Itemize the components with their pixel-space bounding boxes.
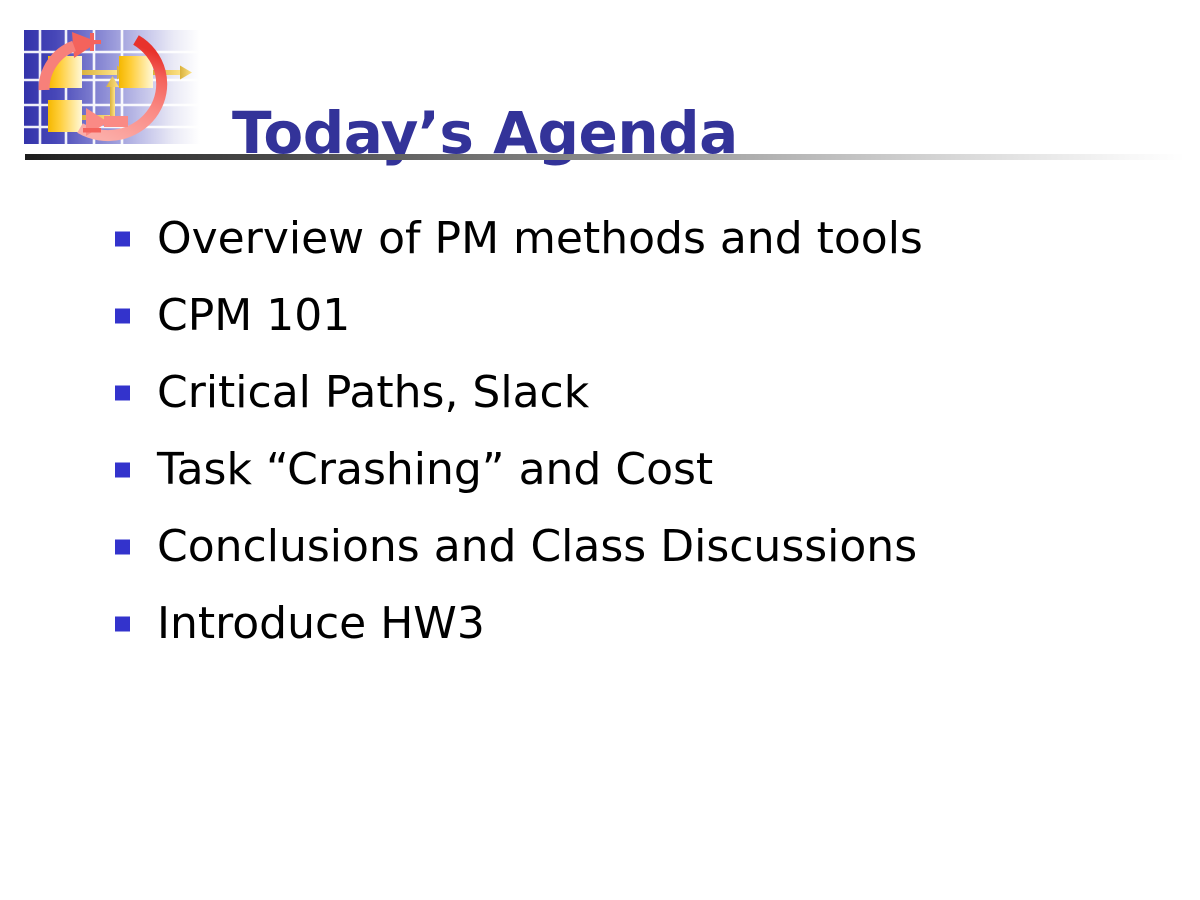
list-item-label: Conclusions and Class Discussions xyxy=(157,525,917,569)
list-item: Overview of PM methods and tools xyxy=(0,200,1200,277)
list-item: Critical Paths, Slack xyxy=(0,354,1200,431)
list-item-label: Introduce HW3 xyxy=(157,602,485,646)
list-item: Task “Crashing” and Cost xyxy=(0,431,1200,508)
bullet-square-icon xyxy=(115,462,130,477)
bullet-square-icon xyxy=(115,385,130,400)
agenda-bullet-list: Overview of PM methods and tools CPM 101… xyxy=(0,200,1200,662)
bullet-square-icon xyxy=(115,616,130,631)
bullet-square-icon xyxy=(115,231,130,246)
bullet-square-icon xyxy=(115,539,130,554)
list-item: CPM 101 xyxy=(0,277,1200,354)
header-divider xyxy=(25,154,1185,160)
slide-title: Today’s Agenda xyxy=(232,94,738,174)
slide-header: Today’s Agenda xyxy=(0,0,1200,165)
project-management-cycle-logo xyxy=(24,30,200,144)
list-item-label: Critical Paths, Slack xyxy=(157,371,589,415)
slide-canvas: Today’s Agenda Overview of PM methods an… xyxy=(0,0,1200,900)
list-item-label: Task “Crashing” and Cost xyxy=(157,448,713,492)
list-item-label: CPM 101 xyxy=(157,294,350,338)
bullet-square-icon xyxy=(115,308,130,323)
list-item: Conclusions and Class Discussions xyxy=(0,508,1200,585)
list-item: Introduce HW3 xyxy=(0,585,1200,662)
list-item-label: Overview of PM methods and tools xyxy=(157,217,923,261)
logo-minus-icon xyxy=(83,128,101,133)
